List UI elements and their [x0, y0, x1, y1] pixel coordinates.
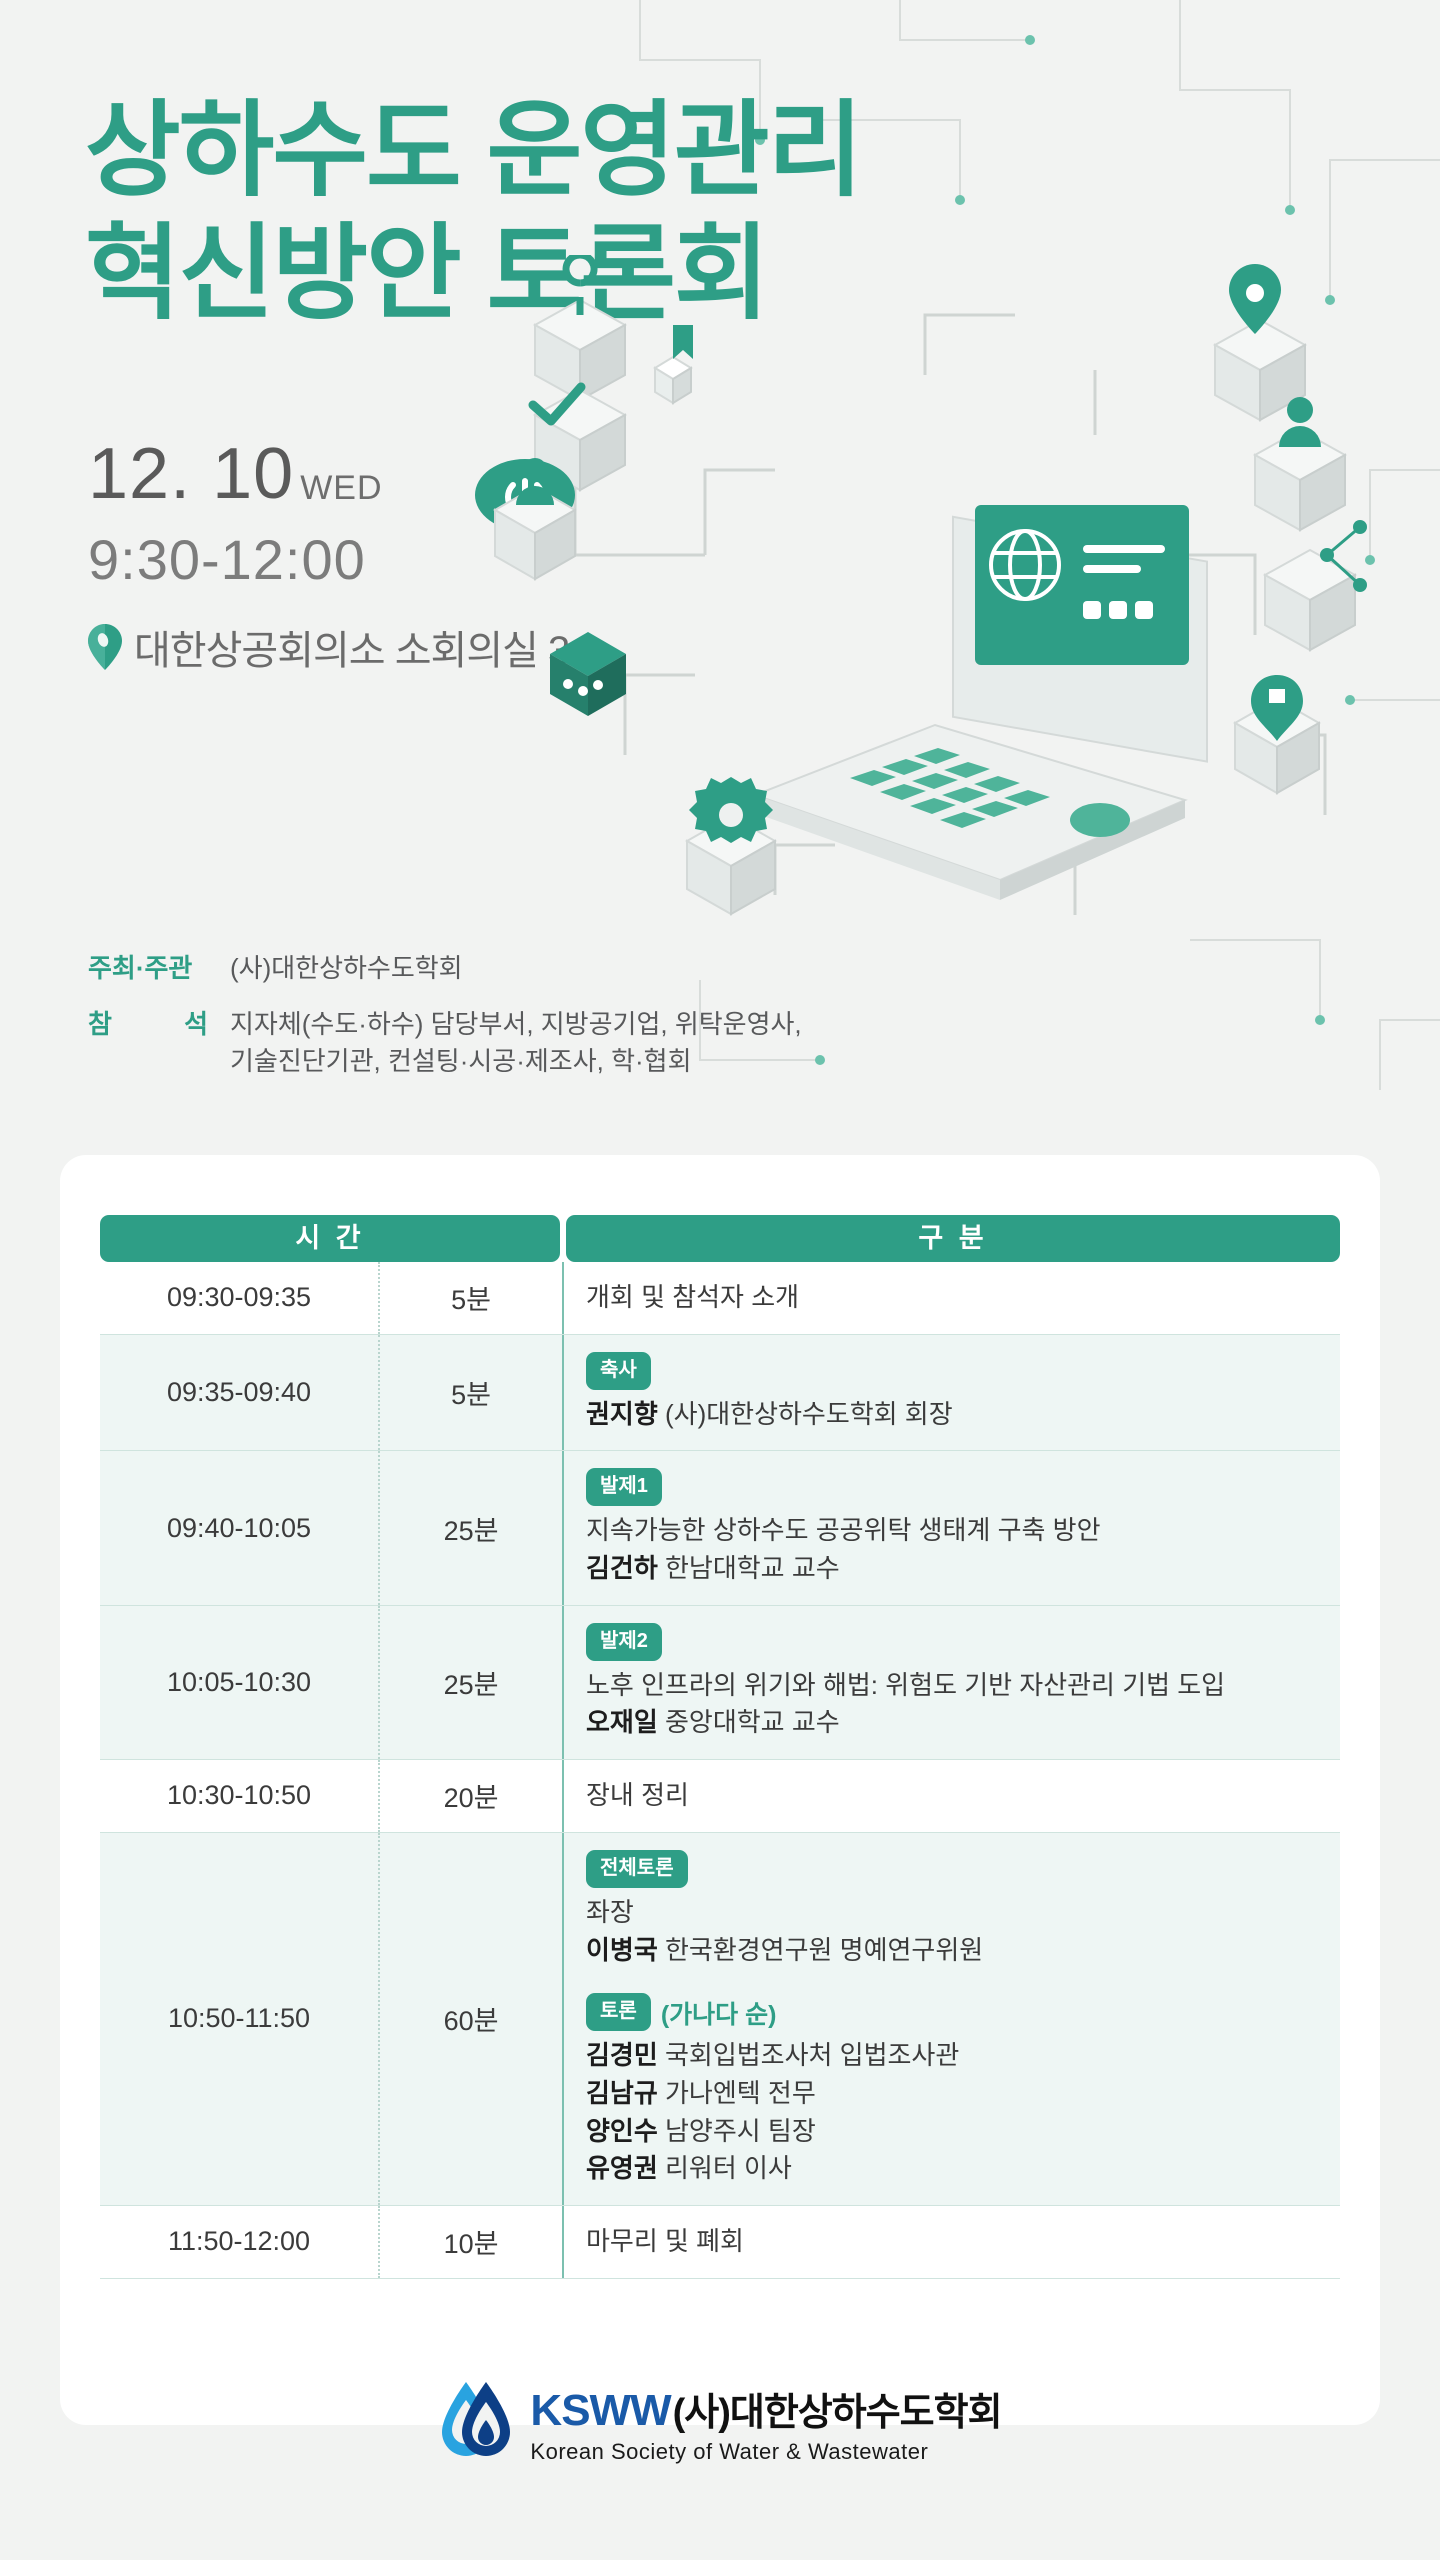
table-row: 10:50-11:5060분전체토론좌장이병국 한국환경연구원 명예연구위원토론… — [100, 1833, 1340, 2206]
event-day-of-week: WED — [300, 471, 382, 510]
cell-duration: 5분 — [380, 1335, 564, 1451]
speaker-name: 오재일 — [586, 1707, 658, 1737]
event-date: 12. 10 — [88, 438, 294, 510]
cell-time: 10:05-10:30 — [100, 1606, 380, 1759]
session-line: 노후 인프라의 위기와 해법: 위험도 기반 자산관리 기법 도입 — [586, 1667, 1340, 1705]
logo-korean-name: (사)대한상하수도학회 — [673, 2381, 1002, 2436]
session-line: 마무리 및 폐회 — [586, 2223, 1340, 2261]
session-line: 김건하 한남대학교 교수 — [586, 1550, 1340, 1588]
host-label-char-1: 참 — [88, 1006, 112, 1044]
cell-division: 개회 및 참석자 소개 — [564, 1262, 1340, 1334]
badge-line: 발제2 — [586, 1623, 1340, 1667]
title-line-1: 상하수도 운영관리 — [85, 93, 861, 209]
cell-time: 09:40-10:05 — [100, 1451, 380, 1604]
column-header-time: 시 간 — [100, 1215, 560, 1262]
schedule-card: 시 간 구 분 09:30-09:355분개회 및 참석자 소개09:35-09… — [60, 1155, 1380, 2425]
logo-primary-line: KSWW (사)대한상하수도학회 — [530, 2381, 1001, 2436]
cell-division: 발제1지속가능한 상하수도 공공위탁 생태계 구축 방안김건하 한남대학교 교수 — [564, 1451, 1340, 1604]
speaker-name: 김경민 — [586, 2040, 658, 2070]
cell-division: 축사권지향 (사)대한상하수도학회 회장 — [564, 1335, 1340, 1451]
badge-line: 축사 — [586, 1352, 1340, 1396]
location-pin-icon — [88, 624, 122, 670]
host-value-attendees: 지자체(수도·하수) 담당부서, 지방공기업, 위탁운영사, 기술진단기관, 컨… — [230, 1006, 802, 1081]
footer-logo: KSWW (사)대한상하수도학회 Korean Society of Water… — [0, 2380, 1440, 2466]
cell-division: 발제2노후 인프라의 위기와 해법: 위험도 기반 자산관리 기법 도입오재일 … — [564, 1606, 1340, 1759]
cell-division: 마무리 및 폐회 — [564, 2206, 1340, 2278]
session-line: 김경민 국회입법조사처 입법조사관 — [586, 2037, 1340, 2075]
badge-line: 토론(가나다 순) — [586, 1993, 1340, 2037]
column-header-division: 구 분 — [566, 1215, 1340, 1262]
speaker-name: 김건하 — [586, 1553, 658, 1583]
session-line: 좌장 — [586, 1894, 1340, 1932]
cell-duration: 5분 — [380, 1262, 564, 1334]
laptop-illustration — [755, 505, 1207, 900]
table-row: 10:30-10:5020분장내 정리 — [100, 1760, 1340, 1833]
table-body: 09:30-09:355분개회 및 참석자 소개09:35-09:405분축사권… — [100, 1262, 1340, 2279]
cell-duration: 60분 — [380, 1833, 564, 2205]
host-value-line: (사)대한상하수도학회 — [230, 950, 463, 988]
table-row: 11:50-12:0010분마무리 및 폐회 — [100, 2206, 1340, 2279]
cell-division: 장내 정리 — [564, 1760, 1340, 1832]
cell-duration: 20분 — [380, 1760, 564, 1832]
status-badge: 발제1 — [586, 1468, 662, 1506]
session-line: 권지향 (사)대한상하수도학회 회장 — [586, 1396, 1340, 1434]
cell-division: 전체토론좌장이병국 한국환경연구원 명예연구위원토론(가나다 순)김경민 국회입… — [564, 1833, 1340, 2205]
status-badge: 발제2 — [586, 1623, 662, 1661]
table-header-row: 시 간 구 분 — [100, 1215, 1340, 1262]
host-row-attendees: 참 석 지자체(수도·하수) 담당부서, 지방공기업, 위탁운영사, 기술진단기… — [88, 1006, 802, 1081]
cell-duration: 25분 — [380, 1451, 564, 1604]
cell-time: 09:35-09:40 — [100, 1335, 380, 1451]
cell-time: 09:30-09:35 — [100, 1262, 380, 1334]
badge-line: 발제1 — [586, 1468, 1340, 1512]
block-spacer — [586, 1969, 1340, 1993]
table-row: 09:30-09:355분개회 및 참석자 소개 — [100, 1262, 1340, 1335]
speaker-name: 이병국 — [586, 1935, 658, 1965]
host-row-organizer: 주최·주관 (사)대한상하수도학회 — [88, 950, 802, 988]
host-label-organizer: 주최·주관 — [88, 950, 230, 988]
speaker-name: 권지향 — [586, 1399, 658, 1429]
host-label-attendees: 참 석 — [88, 1006, 230, 1044]
host-info-block: 주최·주관 (사)대한상하수도학회 참 석 지자체(수도·하수) 담당부서, 지… — [88, 950, 802, 1099]
session-line: 유영권 리워터 이사 — [586, 2150, 1340, 2188]
status-badge: 축사 — [586, 1352, 651, 1390]
host-value-line: 지자체(수도·하수) 담당부서, 지방공기업, 위탁운영사, — [230, 1006, 802, 1044]
session-line: 오재일 중앙대학교 교수 — [586, 1704, 1340, 1742]
status-badge: 토론 — [586, 1993, 651, 2031]
session-line: 장내 정리 — [586, 1777, 1340, 1815]
cell-duration: 10분 — [380, 2206, 564, 2278]
logo-abbreviation: KSWW — [530, 2386, 670, 2436]
session-line: 김남규 가나엔텍 전무 — [586, 2075, 1340, 2113]
status-badge: 전체토론 — [586, 1850, 688, 1888]
session-line: 지속가능한 상하수도 공공위탁 생태계 구축 방안 — [586, 1512, 1340, 1550]
cell-duration: 25분 — [380, 1606, 564, 1759]
speaker-name: 김남규 — [586, 2078, 658, 2108]
host-label-char-2: 석 — [184, 1006, 208, 1044]
table-row: 09:40-10:0525분발제1지속가능한 상하수도 공공위탁 생태계 구축 … — [100, 1451, 1340, 1605]
session-line: 개회 및 참석자 소개 — [586, 1279, 1340, 1317]
poster-root: 상하수도 운영관리 혁신방안 토론회 12. 10 WED 9:30-12:00… — [0, 0, 1440, 2560]
cell-time: 10:30-10:50 — [100, 1760, 380, 1832]
table-row: 10:05-10:3025분발제2노후 인프라의 위기와 해법: 위험도 기반 … — [100, 1606, 1340, 1760]
water-drop-logo-icon — [438, 2380, 514, 2466]
badge-note: (가나다 순) — [661, 2001, 777, 2029]
session-line: 이병국 한국환경연구원 명예연구위원 — [586, 1932, 1340, 1970]
schedule-table: 시 간 구 분 09:30-09:355분개회 및 참석자 소개09:35-09… — [100, 1215, 1340, 2279]
isometric-network-illustration — [455, 255, 1385, 945]
logo-english-name: Korean Society of Water & Wastewater — [530, 2439, 1001, 2465]
speaker-name: 양인수 — [586, 2116, 658, 2146]
host-value-line: 기술진단기관, 컨설팅·시공·제조사, 학·협회 — [230, 1043, 802, 1081]
cell-time: 11:50-12:00 — [100, 2206, 380, 2278]
speaker-name: 유영권 — [586, 2153, 658, 2183]
badge-line: 전체토론 — [586, 1850, 1340, 1894]
logo-text-block: KSWW (사)대한상하수도학회 Korean Society of Water… — [530, 2381, 1001, 2465]
host-value-organizer: (사)대한상하수도학회 — [230, 950, 463, 988]
session-line: 양인수 남양주시 팀장 — [586, 2113, 1340, 2151]
cell-time: 10:50-11:50 — [100, 1833, 380, 2205]
table-row: 09:35-09:405분축사권지향 (사)대한상하수도학회 회장 — [100, 1335, 1340, 1452]
